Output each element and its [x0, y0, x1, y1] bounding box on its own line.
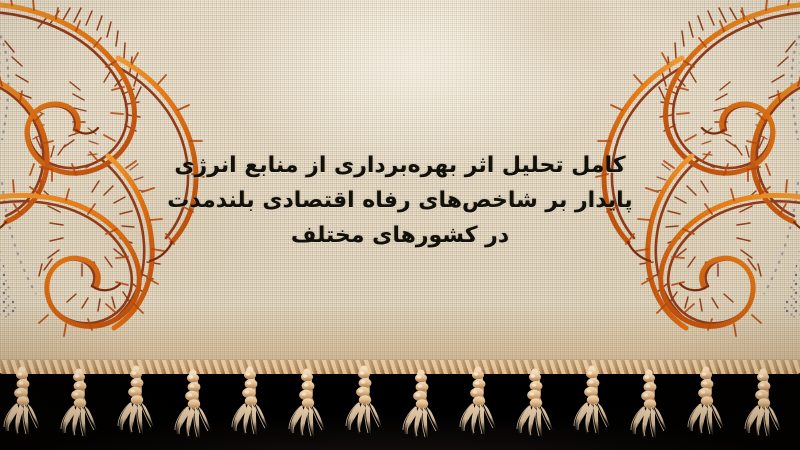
knotted-tassel-fringe-icon [0, 364, 800, 450]
title-card-slide: کامل تحلیل اثر بهره‌برداری از منابع انرژ… [0, 0, 800, 450]
title-line-1: کامل تحلیل اثر بهره‌برداری از منابع انرژ… [0, 148, 800, 183]
title-line-3: در کشورهای مختلف [0, 218, 800, 253]
slide-title: کامل تحلیل اثر بهره‌برداری از منابع انرژ… [0, 148, 800, 253]
title-line-2: پایدار بر شاخص‌های رفاه اقتصادی بلندمدت [0, 183, 800, 218]
